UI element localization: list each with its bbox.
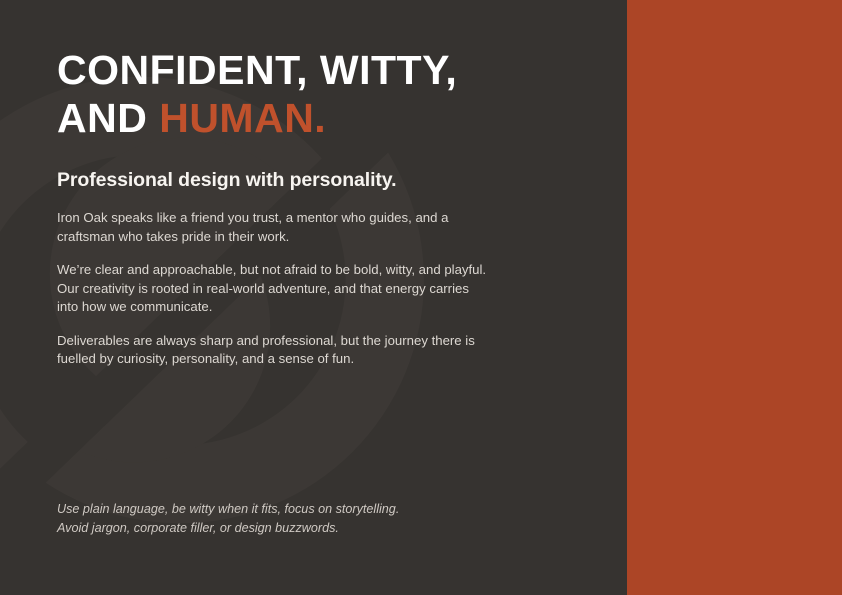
accent-panel [627, 0, 842, 595]
footnote-line-1: Use plain language, be witty when it fit… [57, 500, 527, 519]
body-paragraph: We’re clear and approachable, but not af… [57, 261, 489, 317]
dark-content-panel: CONFIDENT, WITTY, AND HUMAN. Professiona… [0, 0, 627, 595]
text-content-block: CONFIDENT, WITTY, AND HUMAN. Professiona… [57, 0, 527, 369]
footnote-line-2: Avoid jargon, corporate filler, or desig… [57, 519, 527, 538]
headline-accent-word: HUMAN. [159, 95, 326, 141]
body-paragraph: Iron Oak speaks like a friend you trust,… [57, 209, 489, 246]
subtitle: Professional design with personality. [57, 142, 527, 192]
guidance-footnote: Use plain language, be witty when it fit… [57, 500, 527, 538]
headline-line-1: CONFIDENT, WITTY, [57, 47, 457, 93]
page-title: CONFIDENT, WITTY, AND HUMAN. [57, 0, 527, 142]
body-copy: Iron Oak speaks like a friend you trust,… [57, 192, 527, 369]
slide-canvas: CONFIDENT, WITTY, AND HUMAN. Professiona… [0, 0, 842, 595]
headline-line-2-prefix: AND [57, 95, 159, 141]
body-paragraph: Deliverables are always sharp and profes… [57, 332, 489, 369]
